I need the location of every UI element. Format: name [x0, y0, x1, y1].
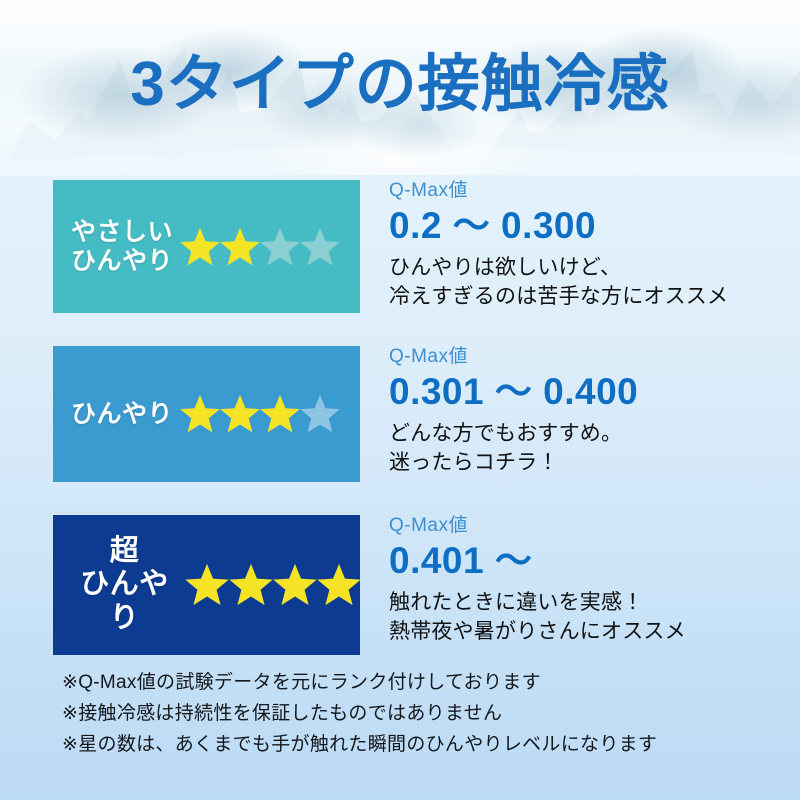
footnote-item: ※星の数は、あくまでも手が触れた瞬間のひんやりレベルになります	[62, 730, 772, 761]
rank-description-2: どんな方でもおすすめ。 迷ったらコチラ！	[389, 420, 768, 478]
qmax-value-1: 0.2 〜 0.300	[389, 204, 768, 248]
rank-card-label-1: やさしい ひんやり	[71, 218, 173, 276]
rank-row-1: やさしい ひんやり Q-Max値 0.2 〜 0.300 ひんやりは欲しいけど、…	[53, 180, 768, 313]
star-filled-icon	[219, 226, 261, 268]
rank-row-3: 超 ひんやり Q-Max値 0.401 〜 触れたときに違いを実感！ 熱帯夜や暑…	[53, 515, 768, 655]
rank-info-2: Q-Max値 0.301 〜 0.400 どんな方でもおすすめ。 迷ったらコチラ…	[360, 346, 768, 478]
qmax-value-3: 0.401 〜	[389, 539, 768, 583]
star-empty-icon	[299, 226, 341, 268]
footnote-list: ※Q-Max値の試験データを元にランク付けしております ※接触冷感は持続性を保証…	[62, 668, 772, 761]
star-empty-icon	[259, 226, 301, 268]
star-filled-icon	[184, 562, 230, 608]
qmax-label-2: Q-Max値	[389, 346, 768, 369]
star-filled-icon	[179, 393, 221, 435]
star-filled-icon	[228, 562, 274, 608]
star-empty-icon	[299, 393, 341, 435]
rank-card-1: やさしい ひんやり	[53, 180, 360, 313]
rank-info-3: Q-Max値 0.401 〜 触れたときに違いを実感！ 熱帯夜や暑がりさんにオス…	[360, 515, 768, 647]
star-rating-2	[179, 393, 339, 435]
rank-row-2: ひんやり Q-Max値 0.301 〜 0.400 どんな方でもおすすめ。 迷っ…	[53, 346, 768, 482]
star-rating-3	[184, 562, 360, 608]
qmax-label-3: Q-Max値	[389, 515, 768, 538]
star-filled-icon	[219, 393, 261, 435]
star-rating-1	[179, 226, 339, 268]
qmax-value-2: 0.301 〜 0.400	[389, 370, 768, 414]
rank-card-label-2: ひんやり	[71, 400, 173, 429]
rank-card-2: ひんやり	[53, 346, 360, 482]
star-filled-icon	[272, 562, 318, 608]
infographic-page: 3タイプの接触冷感 やさしい ひんやり Q-Max値 0.2 〜 0.300 ひ…	[0, 0, 800, 800]
star-filled-icon	[259, 393, 301, 435]
rank-info-1: Q-Max値 0.2 〜 0.300 ひんやりは欲しいけど、 冷えすぎるのは苦手…	[360, 180, 768, 312]
rank-description-1: ひんやりは欲しいけど、 冷えすぎるのは苦手な方にオススメ	[389, 254, 768, 312]
rank-card-3: 超 ひんやり	[53, 515, 360, 655]
star-filled-icon	[179, 226, 221, 268]
footnote-item: ※接触冷感は持続性を保証したものではありません	[62, 699, 772, 730]
page-title: 3タイプの接触冷感	[0, 52, 800, 117]
rank-description-3: 触れたときに違いを実感！ 熱帯夜や暑がりさんにオススメ	[389, 589, 768, 647]
star-filled-icon	[316, 562, 362, 608]
qmax-label-1: Q-Max値	[389, 180, 768, 203]
footnote-item: ※Q-Max値の試験データを元にランク付けしております	[62, 668, 772, 699]
rank-card-label-3: 超 ひんやり	[71, 535, 178, 636]
